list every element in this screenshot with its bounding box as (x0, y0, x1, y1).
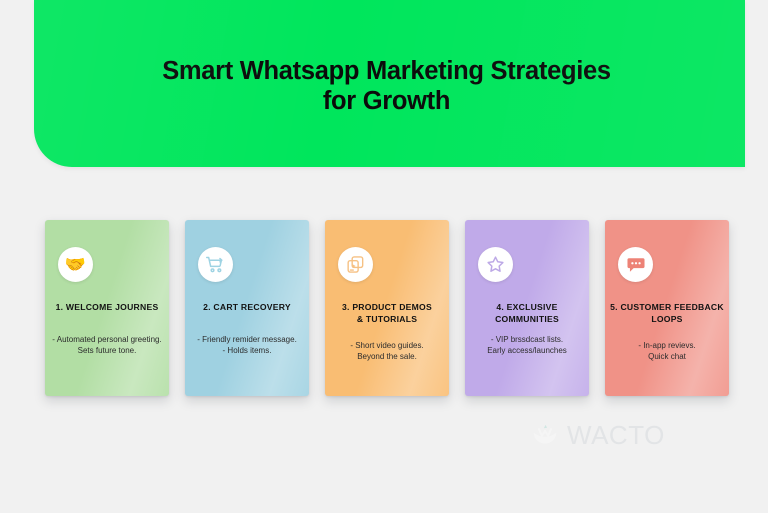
strategy-card-welcome-journeys[interactable]: 🤝 1. WELCOME JOURNES - Automated persona… (45, 220, 169, 396)
card-title: 4. EXCLUSIVE COMMUNITIES (470, 302, 584, 325)
card-title: 2. CART RECOVERY (190, 302, 304, 314)
strategy-card-exclusive-communities[interactable]: 4. EXCLUSIVE COMMUNITIES - VIP brssdcast… (465, 220, 589, 396)
card-title: 5. CUSTOMER FEEDBACK LOOPS (610, 302, 724, 325)
strategy-card-cart-recovery[interactable]: 2. CART RECOVERY - Friendly remider mess… (185, 220, 309, 396)
strategy-card-product-demos[interactable]: 3. PRODUCT DEMOS & TUTORIALS - Short vid… (325, 220, 449, 396)
handshake-icon: 🤝 (58, 247, 93, 282)
watermark-text: WACTO (567, 422, 665, 448)
card-body: - Automated personal greeting. Sets futu… (49, 334, 165, 356)
wacto-logo-icon (530, 420, 560, 450)
header-banner: Smart Whatsapp Marketing Strategies for … (34, 0, 745, 167)
card-body: - In-app revievs. Quick chat (609, 340, 725, 362)
strategy-cards-row: 🤝 1. WELCOME JOURNES - Automated persona… (0, 220, 768, 400)
chat-bubble-icon (618, 247, 653, 282)
page-title: Smart Whatsapp Marketing Strategies for … (94, 56, 679, 116)
card-body: - VIP brssdcast lists. Early access/laun… (469, 334, 585, 356)
card-title: 1. WELCOME JOURNES (50, 302, 164, 314)
shopping-cart-recovery-icon (198, 247, 233, 282)
star-icon (478, 247, 513, 282)
card-title: 3. PRODUCT DEMOS & TUTORIALS (330, 302, 444, 325)
infographic-canvas: Smart Whatsapp Marketing Strategies for … (0, 0, 768, 513)
strategy-card-customer-feedback[interactable]: 5. CUSTOMER FEEDBACK LOOPS - In-app revi… (605, 220, 729, 396)
watermark: WACTO (530, 420, 665, 450)
card-body: - Friendly remider message. - Holds item… (189, 334, 305, 356)
video-player-icon (338, 247, 373, 282)
card-body: - Short video guides. Beyond the sale. (329, 340, 445, 362)
